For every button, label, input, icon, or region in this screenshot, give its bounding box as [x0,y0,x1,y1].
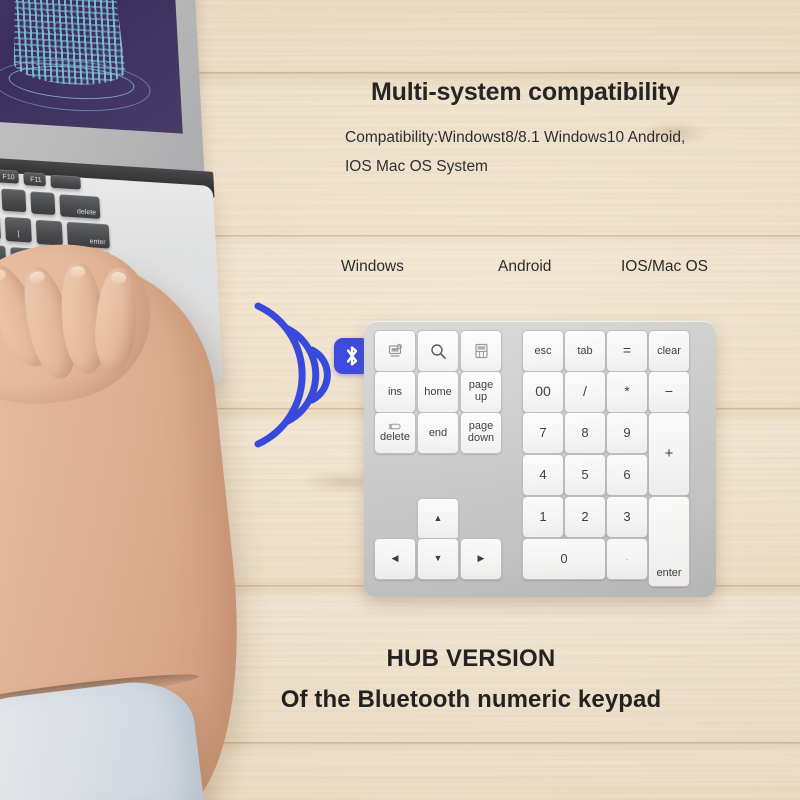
keypad-key-search[interactable] [417,330,459,372]
keypad-key-double-zero[interactable]: 00 [522,371,564,413]
keypad-key-decimal[interactable]: · [606,538,648,580]
laptop-screen: 75% ACK [0,0,183,134]
keypad-key-label: 2 [581,510,588,524]
keypad-key-divide[interactable]: / [564,371,606,413]
keypad-key-label: 7 [539,426,546,440]
keypad-key-seven[interactable]: 7 [522,412,564,454]
keypad-key-label: ▼ [434,554,443,564]
keypad-key-equals[interactable]: = [606,330,648,372]
signal-arcs-icon [240,292,360,458]
keypad-key-ins[interactable]: ins [374,371,416,413]
keypad-key-arrow-left[interactable]: ◀ [374,538,416,580]
keypad-key-label: ▲ [434,514,443,524]
keypad-key-label: 8 [581,426,588,440]
os-label-ios-mac-os: IOS/Mac OS [621,258,708,276]
os-label-windows: Windows [341,258,404,276]
laptop-key[interactable] [50,175,81,190]
laptop-key[interactable] [1,189,26,213]
keypad-key-minus[interactable]: − [648,371,690,413]
keypad-key-label: end [429,427,447,439]
laptop-key-label: [ [5,230,31,239]
keypad-key-five[interactable]: 5 [564,454,606,496]
keypad-key-label: 6 [623,468,630,482]
bluetooth-numeric-keypad[interactable]: esctab=clearinshomepageup00/*−deleteendp… [364,321,716,597]
keypad-key-label: up [475,392,487,404]
keypad-key-label: 4 [539,468,546,482]
keypad-key-label: esc [534,345,551,357]
laptop-key-label: delete [77,208,96,216]
laptop-key[interactable] [30,191,55,215]
footer-subheading: Of the Bluetooth numeric keypad [0,686,800,714]
bluetooth-signal-graphic [240,292,370,458]
keypad-key-one[interactable]: 1 [522,496,564,538]
page-title: Multi-system compatibility [371,78,791,107]
keypad-key-label: * [624,384,629,399]
keypad-key-label: home [424,386,452,398]
keypad-key-label: down [468,433,494,445]
compatibility-line-1: Compatibility:Windowst8/8.1 Windows10 An… [345,124,775,153]
keypad-key-label: enter [656,567,681,579]
keypad-key-label: delete [380,431,410,443]
keypad-key-delete[interactable]: delete [374,412,416,454]
keypad-key-arrow-up[interactable]: ▲ [417,498,459,540]
keypad-key-label: 9 [623,426,630,440]
keypad-key-label: 00 [535,384,551,399]
compatibility-description: Compatibility:Windowst8/8.1 Windows10 An… [345,124,775,181]
keypad-key-label: = [623,343,631,358]
compatibility-line-2: IOS Mac OS System [345,153,775,182]
keypad-key-label: 1 [539,510,546,524]
keypad-key-home[interactable]: home [417,371,459,413]
delete-icon [387,423,403,430]
keypad-key-label: ins [388,386,402,398]
keypad-key-label: ◀ [392,554,399,564]
keypad-key-screenshot[interactable] [374,330,416,372]
keypad-key-zero[interactable]: 0 [522,538,606,580]
laptop-key[interactable] [36,220,63,246]
keypad-key-label: · [625,554,628,565]
keypad-key-six[interactable]: 6 [606,454,648,496]
keypad-key-label: tab [577,345,592,357]
product-marketing-image: 75% ACK F8F9F10F11deleteP[enterreturnshi… [0,0,800,800]
keypad-key-label: / [583,384,587,399]
keypad-key-two[interactable]: 2 [564,496,606,538]
laptop-key-label: F11 [30,176,42,184]
keypad-key-calculator[interactable] [460,330,502,372]
keypad-key-end[interactable]: end [417,412,459,454]
laptop-key-label: F10 [2,174,14,182]
keypad-key-eight[interactable]: 8 [564,412,606,454]
os-label-android: Android [498,258,551,276]
keypad-key-nine[interactable]: 9 [606,412,648,454]
laptop-key[interactable]: [ [5,217,32,243]
keypad-key-arrow-right[interactable]: ▶ [460,538,502,580]
keypad-key-clear[interactable]: clear [648,330,690,372]
footer-heading-text: HUB VERSION [387,645,556,673]
keypad-key-multiply[interactable]: * [606,371,648,413]
footer-subheading-text: Of the Bluetooth numeric keypad [281,686,661,714]
laptop-key[interactable]: F11 [23,172,46,186]
screenshot-icon [387,343,403,359]
keypad-key-label: ▶ [478,554,485,564]
laptop-key[interactable]: F10 [0,169,19,183]
keypad-key-plus[interactable]: + [648,412,690,496]
keypad-key-enter[interactable]: enter [648,496,690,587]
bluetooth-icon [342,344,362,368]
laptop-key-label: enter [89,238,105,246]
keypad-key-tab[interactable]: tab [564,330,606,372]
dashboard-gear-ring [0,55,152,115]
keypad-key-page-up[interactable]: pageup [460,371,502,413]
calculator-icon [474,343,489,359]
laptop-key[interactable] [0,214,1,240]
keypad-key-label: clear [657,345,681,357]
footer-heading: HUB VERSION [0,645,800,673]
keypad-key-label: + [665,446,674,463]
keypad-key-label: 5 [581,468,588,482]
os-label-row: WindowsAndroidIOS/Mac OS [341,258,771,282]
keypad-key-label: − [665,384,673,399]
keypad-key-esc[interactable]: esc [522,330,564,372]
keypad-key-arrow-down[interactable]: ▼ [417,538,459,580]
keypad-key-three[interactable]: 3 [606,496,648,538]
laptop-key[interactable]: delete [59,194,100,219]
keypad-key-four[interactable]: 4 [522,454,564,496]
keypad-key-page-down[interactable]: pagedown [460,412,502,454]
keypad-key-label: 0 [560,552,567,566]
keypad-key-label: 3 [623,510,630,524]
search-icon [430,343,447,360]
